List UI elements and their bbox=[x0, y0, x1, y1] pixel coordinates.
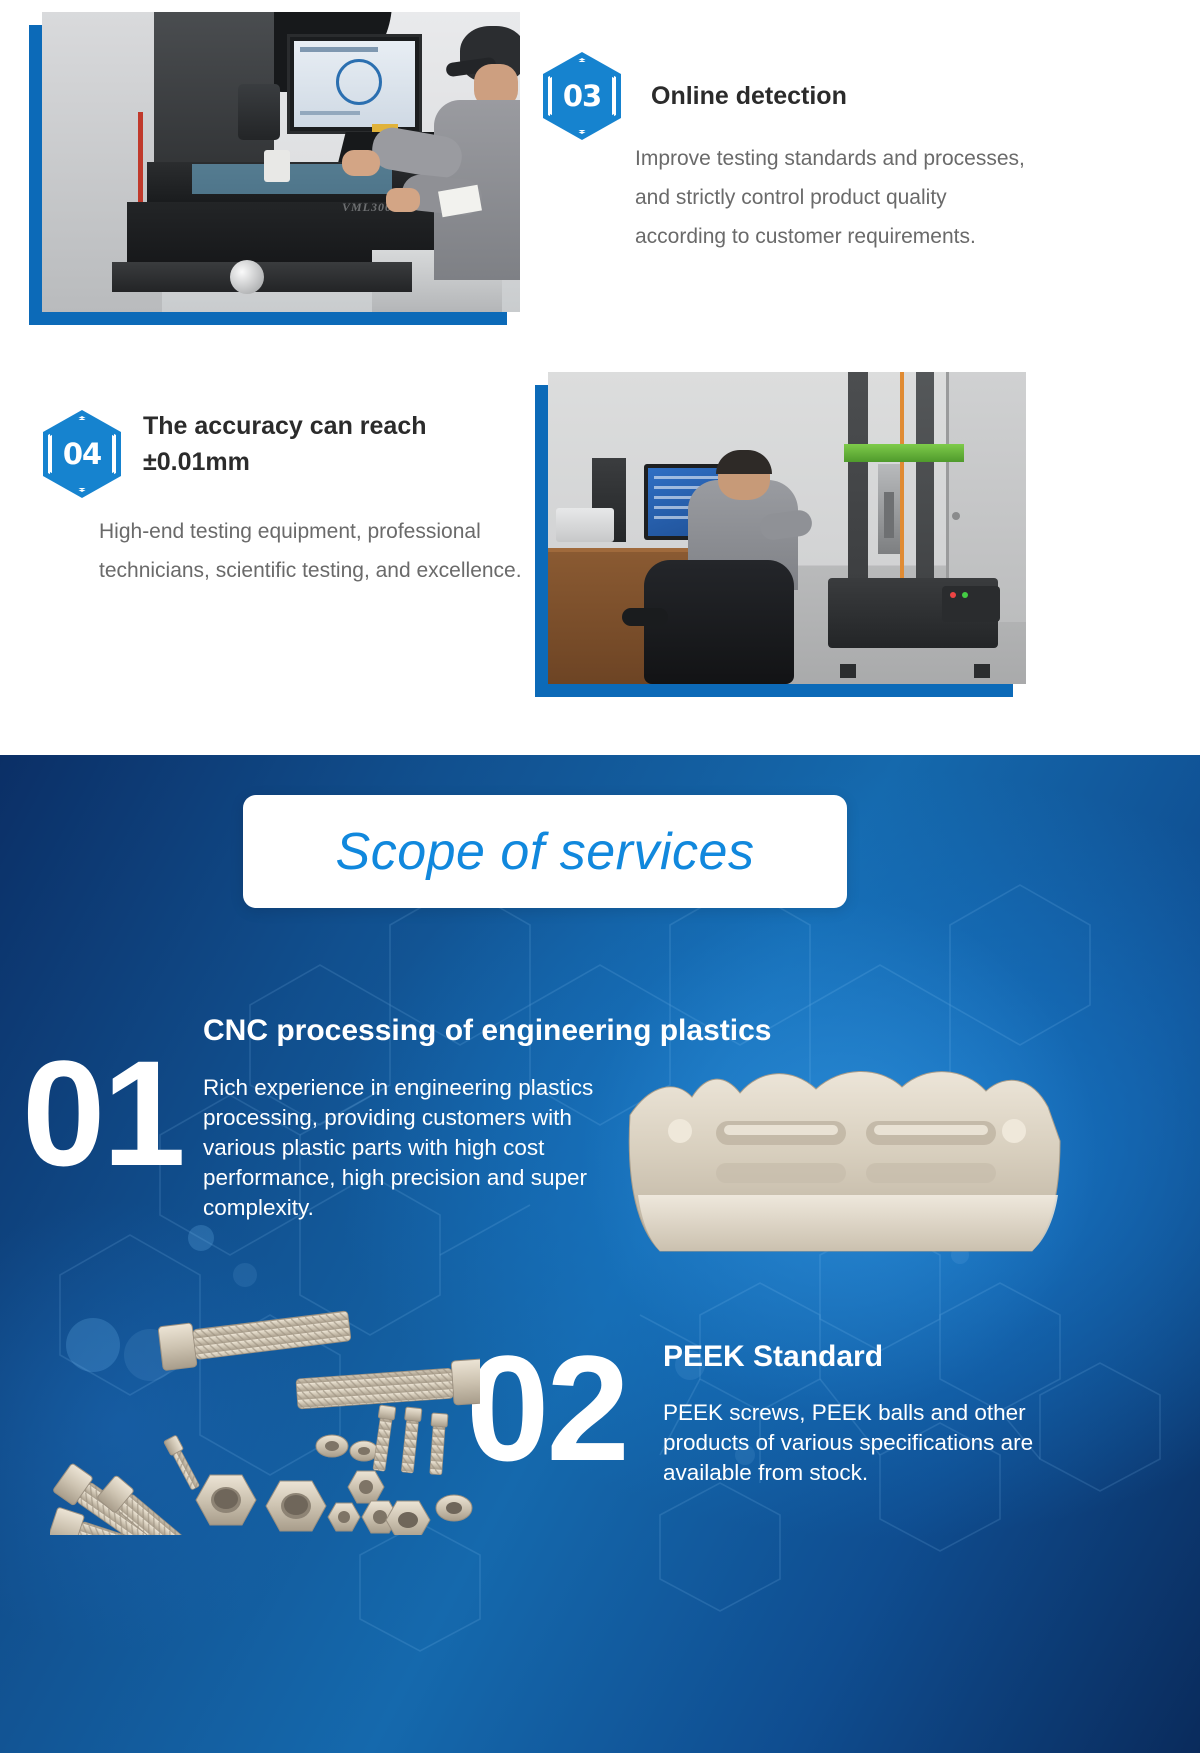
tensile-testing-photo bbox=[548, 372, 1026, 684]
scope-heading-01: CNC processing of engineering plastics bbox=[203, 1014, 963, 1048]
feature-title-04: The accuracy can reach ±0.01mm bbox=[143, 409, 503, 480]
scope-body-01: Rich experience in engineering plastics … bbox=[203, 1073, 635, 1223]
features-section: VML300 03 Online detection Improve t bbox=[0, 0, 1200, 835]
feature-number: 04 bbox=[43, 410, 121, 498]
scope-title-card: Scope of services bbox=[243, 795, 847, 908]
feature-body-03: Improve testing standards and processes,… bbox=[635, 140, 1025, 257]
peek-chain-link-part bbox=[620, 1045, 1070, 1280]
photo-image bbox=[548, 372, 1026, 684]
scope-number-01: 01 bbox=[22, 1038, 183, 1188]
feature-number: 03 bbox=[543, 52, 621, 140]
scope-heading-02: PEEK Standard bbox=[663, 1340, 1083, 1374]
feature-badge-04: 04 bbox=[43, 410, 121, 498]
scope-title: Scope of services bbox=[336, 822, 755, 882]
product-detail-page: VML300 03 Online detection Improve t bbox=[0, 0, 1200, 1753]
scope-number-02: 02 bbox=[466, 1333, 627, 1483]
scope-body-02: PEEK screws, PEEK balls and other produc… bbox=[663, 1398, 1069, 1488]
online-detection-photo: VML300 bbox=[42, 12, 520, 312]
photo-image: VML300 bbox=[42, 12, 520, 312]
feature-badge-03: 03 bbox=[543, 52, 621, 140]
machine-model-label: VML300 bbox=[342, 200, 392, 215]
peek-screws-and-nuts bbox=[50, 1285, 480, 1535]
feature-body-04: High-end testing equipment, professional… bbox=[99, 513, 529, 591]
decor-dot bbox=[188, 1225, 214, 1251]
feature-title-03: Online detection bbox=[651, 79, 1051, 115]
